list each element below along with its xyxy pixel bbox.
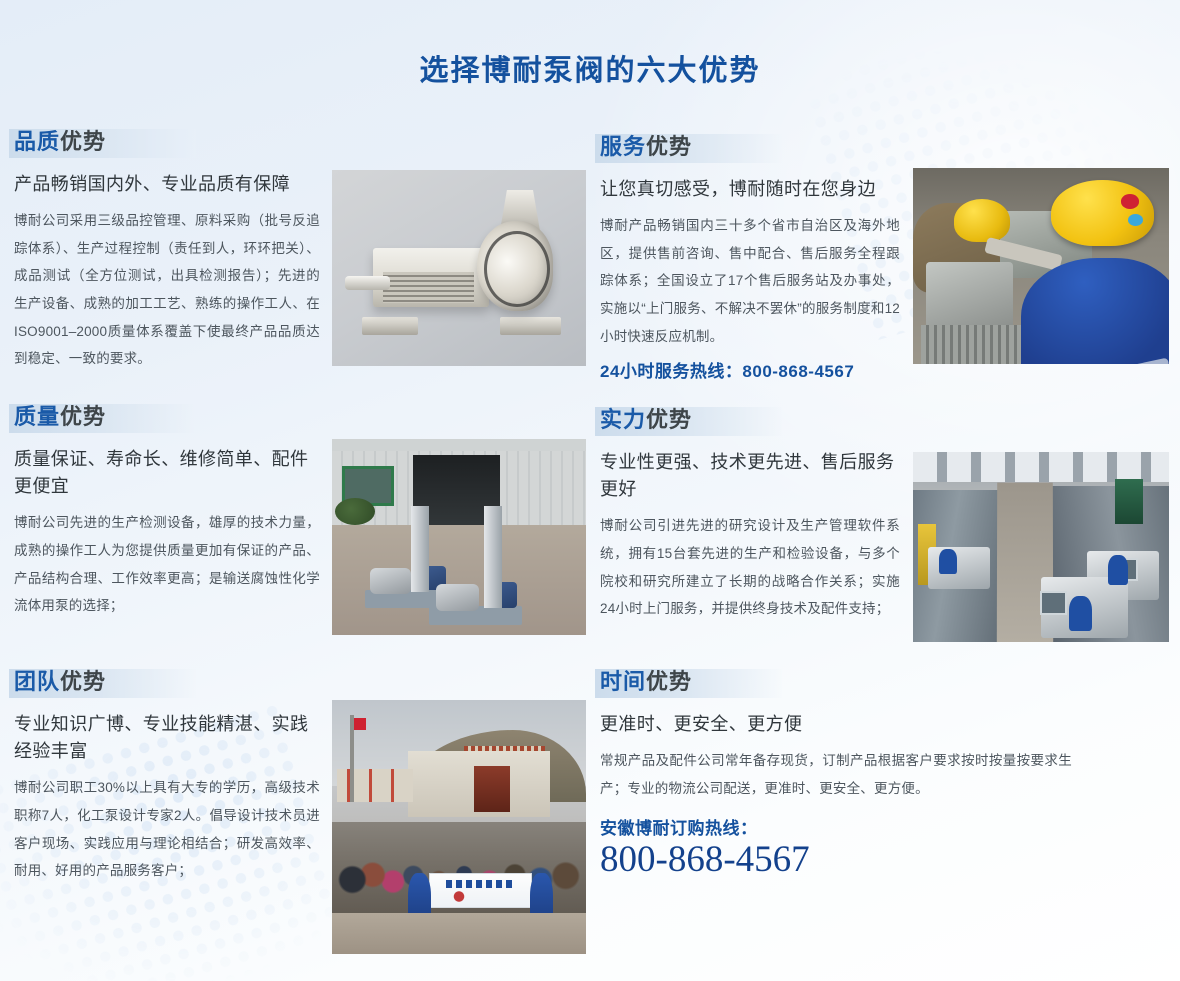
red-gate [474,766,510,812]
heading-suffix: 优势 [60,129,106,154]
operator-front [1069,596,1092,630]
pump-base-right [500,317,561,335]
cnc-control-screen-front [1040,591,1067,616]
service-hotline: 24小时服务热线：800-868-4567 [600,357,900,382]
separator-column-left [411,506,429,592]
section-team-advantage-text: 团队优势 专业知识广博、专业技能精湛、实践经验丰富 博耐公司职工30%以上具有大… [14,665,320,885]
section-strength-advantage-body: 博耐公司引进先进的研究设计及生产管理软件系统，拥有15台套先进的生产和检验设备，… [600,512,900,623]
heading-keyword: 品质 [14,129,60,154]
green-machine [1115,479,1143,525]
section-strength-advantage: 实力优势 专业性更强、技术更先进、售后服务更好 博耐公司引进先进的研究设计及生产… [600,403,1170,593]
worker-right-body [1021,258,1169,364]
heading-keyword: 实力 [600,407,646,432]
separator-column-right [484,506,502,608]
section-strength-advantage-subtitle: 专业性更强、技术更先进、售后服务更好 [600,449,900,504]
section-reliability-advantage-subtitle: 质量保证、寿命长、维修简单、配件更便宜 [14,446,320,501]
section-reliability-advantage-text: 质量优势 质量保证、寿命长、维修简单、配件更便宜 博耐公司先进的生产检测设备，雄… [14,400,320,620]
pump-shaft [345,276,391,290]
foreground-road [332,913,586,954]
banner-text [446,880,513,889]
heading-suffix: 优势 [60,669,106,694]
section-time-advantage-subtitle: 更准时、更安全、更方便 [600,711,1072,738]
order-hotline-label: 安徽博耐订购热线： [600,814,1072,839]
section-reliability-advantage-heading: 质量优势 [14,400,106,435]
section-reliability-advantage: 质量优势 质量保证、寿命长、维修简单、配件更便宜 博耐公司先进的生产检测设备，雄… [14,400,584,596]
section-quality-advantage-subtitle: 产品畅销国内外、专业品质有保障 [14,171,320,198]
pump-base-left [362,317,418,335]
section-quality-advantage-text: 品质优势 产品畅销国内外、专业品质有保障 博耐公司采用三级品控管理、原料采购（批… [14,125,320,373]
section-service-advantage: 服务优势 让您真切感受，博耐随时在您身边 博耐产品畅销国内三十多个省市自治区及海… [600,130,1170,326]
wall-posters [337,769,413,802]
section-quality-advantage-heading: 品质优势 [14,125,106,160]
page-title: 选择博耐泵阀的六大优势 [0,47,1180,89]
advantages-page: 选择博耐泵阀的六大优势 品质优势 产品畅销国内外、专业品质有保障 博耐公司采用三… [0,0,1180,981]
heading-keyword: 质量 [14,404,60,429]
helmet-red-sticker [1121,194,1139,209]
heading-keyword: 服务 [600,134,646,159]
chinese-flag-icon [354,718,367,731]
pump-left [370,568,411,593]
section-reliability-advantage-body: 博耐公司先进的生产检测设备，雄厚的技术力量，成熟的操作工人为您提供质量更加有保证… [14,509,320,620]
section-team-advantage: 团队优势 专业知识广博、专业技能精湛、实践经验丰富 博耐公司职工30%以上具有大… [14,665,584,919]
helmet-blue-sticker [1128,214,1143,226]
heading-suffix: 优势 [646,669,692,694]
section-quality-advantage-body: 博耐公司采用三级品控管理、原料采购（批号反追踪体系）、生产过程控制（责任到人，环… [14,207,320,373]
pump-cooling-fins [383,272,474,303]
heading-keyword: 时间 [600,669,646,694]
section-time-advantage-body: 常规产品及配件公司常年备存现货，订制产品根据客户要求按时按量按要求生产；专业的物… [600,747,1072,802]
section-service-advantage-heading: 服务优势 [600,130,692,165]
section-service-advantage-body: 博耐产品畅销国内三十多个省市自治区及海外地区，提供售前咨询、售中配合、售后服务全… [600,212,900,350]
yellow-helmet-left-icon [954,199,1010,242]
order-hotline-number[interactable]: 800-868-4567 [600,840,1072,881]
operator-left [939,549,957,574]
section-service-advantage-subtitle: 让您真切感受，博耐随时在您身边 [600,176,900,203]
workers-servicing-pump-photo [913,168,1169,364]
reflective-stripe [1106,357,1169,364]
section-time-advantage-text: 时间优势 更准时、更安全、更方便 常规产品及配件公司常年备存现货，订制产品根据客… [600,665,1072,881]
pump-product-photo [332,170,586,366]
machining-workshop-photo [913,452,1169,642]
section-team-advantage-body: 博耐公司职工30%以上具有大专的学历，高级技术职称7人，化工泵设计专家2人。倡导… [14,774,320,885]
heading-suffix: 优势 [646,134,692,159]
yellow-helmet-right-icon [1051,180,1153,247]
motor-terminal-box [926,262,1013,329]
heading-suffix: 优势 [60,404,106,429]
section-service-advantage-text: 服务优势 让您真切感受，博耐随时在您身边 博耐产品畅销国内三十多个省市自治区及海… [600,130,900,382]
section-strength-advantage-heading: 实力优势 [600,403,692,438]
section-team-advantage-heading: 团队优势 [14,665,106,700]
pump-right [436,584,479,611]
motor-fins [921,325,1023,364]
section-strength-advantage-text: 实力优势 专业性更强、技术更先进、售后服务更好 博耐公司引进先进的研究设计及生产… [600,403,900,623]
tibet-charity-group-photo [332,700,586,954]
operator-rear [1108,555,1128,585]
cnc-machine-left [928,547,989,589]
banner-logo [448,891,470,902]
section-quality-advantage: 品质优势 产品畅销国内外、专业品质有保障 博耐公司采用三级品控管理、原料采购（批… [14,125,584,321]
event-banner [429,873,533,908]
heading-keyword: 团队 [14,669,60,694]
section-time-advantage-heading: 时间优势 [600,665,692,700]
section-team-advantage-subtitle: 专业知识广博、专业技能精湛、实践经验丰富 [14,711,320,766]
heading-suffix: 优势 [646,407,692,432]
pump-skids-yard-photo [332,439,586,635]
pump-impeller-ring [484,231,551,308]
